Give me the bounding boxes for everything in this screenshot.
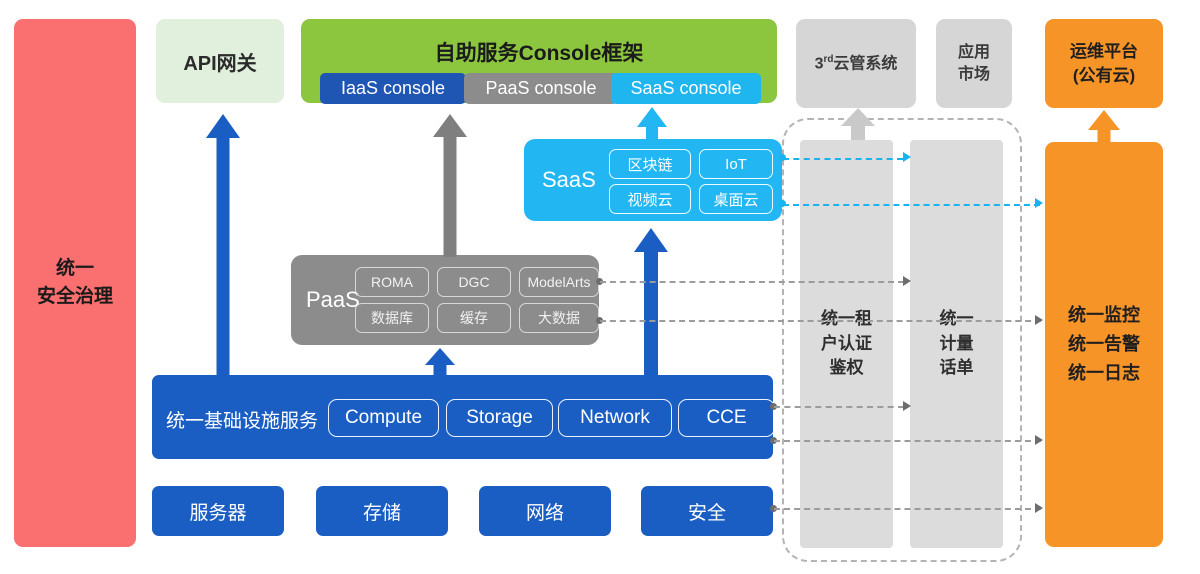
hardware-item-server[interactable]: 服务器 <box>152 486 284 536</box>
arrow-head <box>206 114 240 138</box>
paas-console-label: PaaS console <box>485 78 596 99</box>
unified-metering-column: 统一 计量 话单 <box>910 140 1003 548</box>
self-service-console-framework: 自助服务Console框架 IaaS console PaaS console … <box>301 19 777 103</box>
arrow-shaft <box>644 250 658 376</box>
arrow-shaft <box>444 135 457 257</box>
arrow-paas-to-console <box>433 114 467 257</box>
saas-layer-block: SaaS 区块链 IoT 视频云 桌面云 <box>524 139 782 221</box>
arrow-head <box>433 114 467 137</box>
paas-item-bigdata[interactable]: 大数据 <box>519 303 599 333</box>
hardware-item-network-label: 网络 <box>526 498 564 525</box>
third-party-cloud-mgmt-card: 3rd云管系统 <box>796 19 916 108</box>
iaas-item-cce[interactable]: CCE <box>678 399 775 437</box>
iaas-bar-label: 统一基础设施服务 <box>166 406 318 433</box>
arrow-head <box>841 108 875 126</box>
paas-item-modelarts[interactable]: ModelArts <box>519 267 599 297</box>
hardware-item-storage-label: 存储 <box>363 498 401 525</box>
architecture-diagram: 统一 安全治理 API网关 自助服务Console框架 IaaS console… <box>0 0 1200 574</box>
api-gateway-label: API网关 <box>183 47 256 76</box>
arrow-head-icon <box>1035 315 1043 325</box>
paas-item-modelarts-label: ModelArts <box>527 274 590 290</box>
paas-item-cache-label: 缓存 <box>460 308 488 328</box>
arrow-shaft <box>1098 128 1111 144</box>
ops-bar-line-3: 统一日志 <box>1068 359 1140 388</box>
metering-line-3: 话单 <box>940 356 974 381</box>
arrow-head <box>634 228 668 252</box>
paas-item-database[interactable]: 数据库 <box>355 303 429 333</box>
arrow-shaft <box>851 125 865 140</box>
iaas-item-storage-label: Storage <box>466 407 533 429</box>
saas-item-video-cloud-label: 视频云 <box>627 189 672 210</box>
hardware-item-storage[interactable]: 存储 <box>316 486 448 536</box>
iaas-item-cce-label: CCE <box>706 407 746 429</box>
dashed-line-iaas-to-auth <box>774 406 904 408</box>
ops-platform-line-2: (公有云) <box>1073 64 1135 88</box>
dashed-line-saas-to-ops <box>783 204 1040 206</box>
paas-console-chip[interactable]: PaaS console <box>464 73 618 104</box>
iaas-item-compute[interactable]: Compute <box>328 399 439 437</box>
dashed-line-paas-to-ops <box>600 320 1041 322</box>
saas-item-desktop-cloud-label: 桌面云 <box>713 189 758 210</box>
saas-item-video-cloud[interactable]: 视频云 <box>609 184 691 214</box>
arrow-head-icon <box>903 276 911 286</box>
paas-item-roma-label: ROMA <box>371 274 413 290</box>
app-market-card: 应用 市场 <box>936 19 1012 108</box>
paas-item-dgc[interactable]: DGC <box>437 267 511 297</box>
arrow-shaft <box>217 136 230 376</box>
saas-layer-label: SaaS <box>542 167 596 193</box>
third-party-label: 3rd云管系统 <box>815 53 898 75</box>
iaas-item-compute-label: Compute <box>345 407 422 429</box>
paas-item-database-label: 数据库 <box>371 308 413 328</box>
arrow-head-icon <box>1035 198 1043 208</box>
iaas-console-label: IaaS console <box>341 78 445 99</box>
arrow-shaft <box>434 364 447 376</box>
dashed-line-iaas-to-ops <box>774 440 1041 442</box>
iaas-item-network[interactable]: Network <box>558 399 672 437</box>
saas-item-iot[interactable]: IoT <box>699 149 773 179</box>
paas-layer-block: PaaS ROMA DGC ModelArts 数据库 缓存 大数据 <box>291 255 599 345</box>
paas-item-roma[interactable]: ROMA <box>355 267 429 297</box>
dashed-line-saas-to-auth <box>783 158 903 160</box>
saas-item-blockchain[interactable]: 区块链 <box>609 149 691 179</box>
app-market-line-1: 应用 <box>958 42 990 64</box>
hardware-item-security-label: 安全 <box>688 498 726 525</box>
api-gateway-block: API网关 <box>156 19 284 103</box>
saas-item-blockchain-label: 区块链 <box>627 154 672 175</box>
arrow-shaft <box>646 125 658 141</box>
auth-line-3: 鉴权 <box>830 356 864 381</box>
ops-bar-line-2: 统一告警 <box>1068 330 1140 359</box>
console-framework-title: 自助服务Console框架 <box>301 37 777 67</box>
paas-layer-label: PaaS <box>306 287 360 313</box>
hardware-item-server-label: 服务器 <box>189 498 246 525</box>
security-line-1: 统一 <box>56 255 94 283</box>
ops-monitoring-bar: 统一监控 统一告警 统一日志 <box>1045 142 1163 547</box>
iaas-console-chip[interactable]: IaaS console <box>320 73 466 104</box>
ops-platform-card: 运维平台 (公有云) <box>1045 19 1163 108</box>
saas-item-desktop-cloud[interactable]: 桌面云 <box>699 184 773 214</box>
arrow-head-icon <box>903 152 911 162</box>
unified-tenant-auth-column: 统一租 户认证 鉴权 <box>800 140 893 548</box>
paas-item-cache[interactable]: 缓存 <box>437 303 511 333</box>
unified-infrastructure-bar: 统一基础设施服务 Compute Storage Network CCE <box>152 375 773 459</box>
metering-line-2: 计量 <box>940 332 974 357</box>
arrow-head-icon <box>1035 503 1043 513</box>
unified-security-governance-block: 统一 安全治理 <box>14 19 136 547</box>
app-market-line-2: 市场 <box>958 64 990 86</box>
arrow-head <box>1088 110 1120 130</box>
third-party-superscript: rd <box>823 54 833 65</box>
arrow-iaas-to-api-gateway <box>206 114 240 376</box>
arrow-head <box>425 348 455 365</box>
arrow-iaas-to-saas <box>634 228 668 376</box>
auth-line-2: 户认证 <box>821 332 872 357</box>
arrow-iaas-to-paas <box>425 348 455 376</box>
paas-item-bigdata-label: 大数据 <box>538 308 580 328</box>
hardware-item-network[interactable]: 网络 <box>479 486 611 536</box>
ops-platform-line-1: 运维平台 <box>1070 40 1138 64</box>
dashed-line-hardware-to-ops <box>774 508 1041 510</box>
arrow-head-icon <box>903 401 911 411</box>
arrow-services-to-third-party <box>841 108 875 140</box>
ops-bar-line-1: 统一监控 <box>1068 301 1140 330</box>
arrow-ops-bar-to-ops-platform <box>1088 110 1120 144</box>
arrow-saas-to-console <box>637 107 667 141</box>
arrow-head-icon <box>1035 435 1043 445</box>
security-line-2: 安全治理 <box>37 283 113 311</box>
dashed-line-paas-to-auth <box>600 281 904 283</box>
saas-item-iot-label: IoT <box>725 156 747 173</box>
iaas-item-storage[interactable]: Storage <box>446 399 553 437</box>
hardware-item-security[interactable]: 安全 <box>641 486 773 536</box>
saas-console-chip[interactable]: SaaS console <box>611 73 761 104</box>
saas-console-label: SaaS console <box>630 78 741 99</box>
arrow-head <box>637 107 667 127</box>
paas-item-dgc-label: DGC <box>458 274 489 290</box>
iaas-item-network-label: Network <box>580 407 650 429</box>
